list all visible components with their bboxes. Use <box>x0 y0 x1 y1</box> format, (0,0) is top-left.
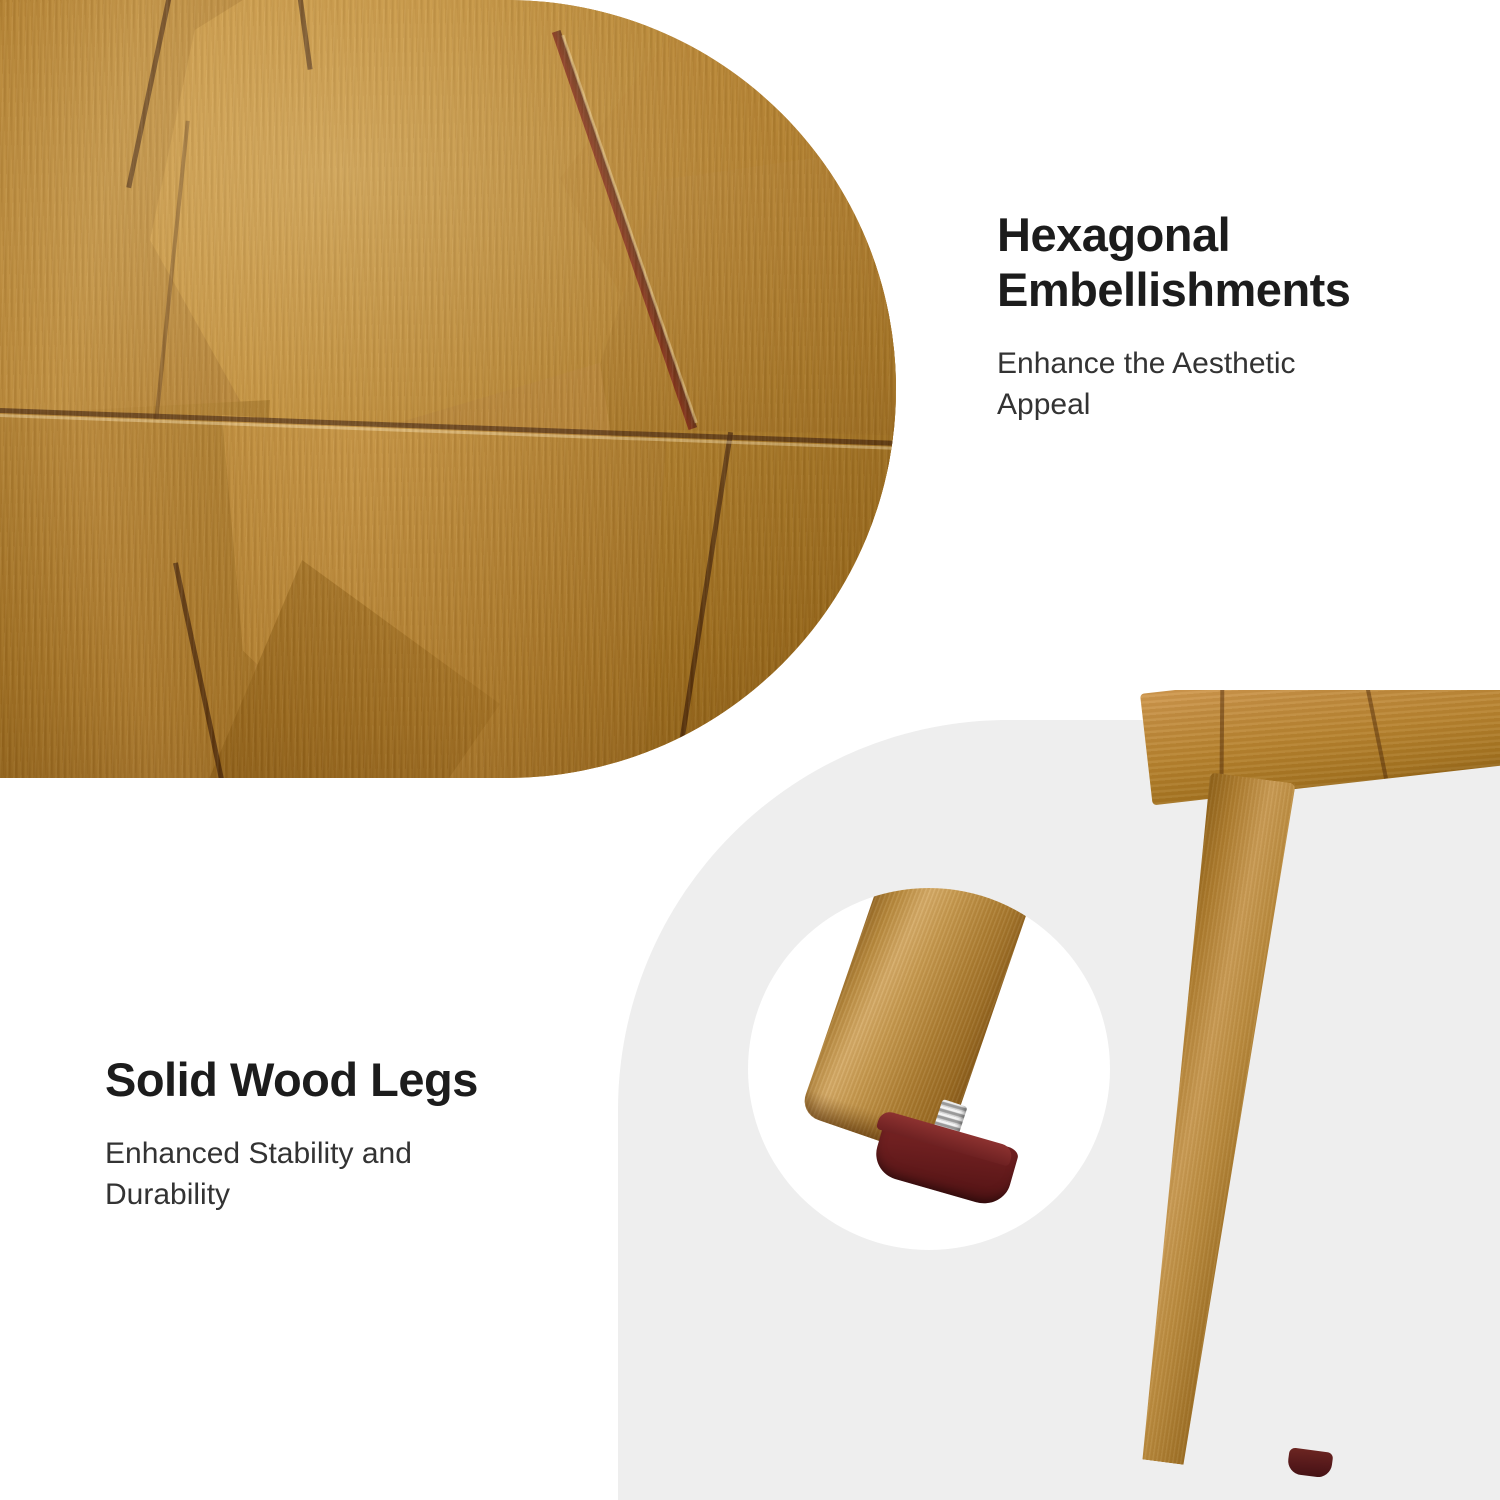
feature-subtitle-hexagonal: Enhance the Aesthetic Appeal <box>997 344 1447 426</box>
feature-block-solid-wood-legs: Solid Wood Legs Enhanced Stability and D… <box>105 1053 565 1216</box>
infographic-page: Hexagonal Embellishments Enhance the Aes… <box>0 0 1500 1500</box>
feature-subtitle-solid-wood-legs: Enhanced Stability and Durability <box>105 1134 565 1216</box>
feature-title-hexagonal: Hexagonal Embellishments <box>997 208 1447 318</box>
feature-block-hexagonal-embellishments: Hexagonal Embellishments Enhance the Aes… <box>997 208 1447 426</box>
feature-title-solid-wood-legs: Solid Wood Legs <box>105 1053 565 1108</box>
leg-foot-magnifier-inset <box>748 888 1110 1250</box>
table-leg-photo <box>600 690 1500 1500</box>
hexagonal-wood-panel-photo <box>0 0 896 778</box>
